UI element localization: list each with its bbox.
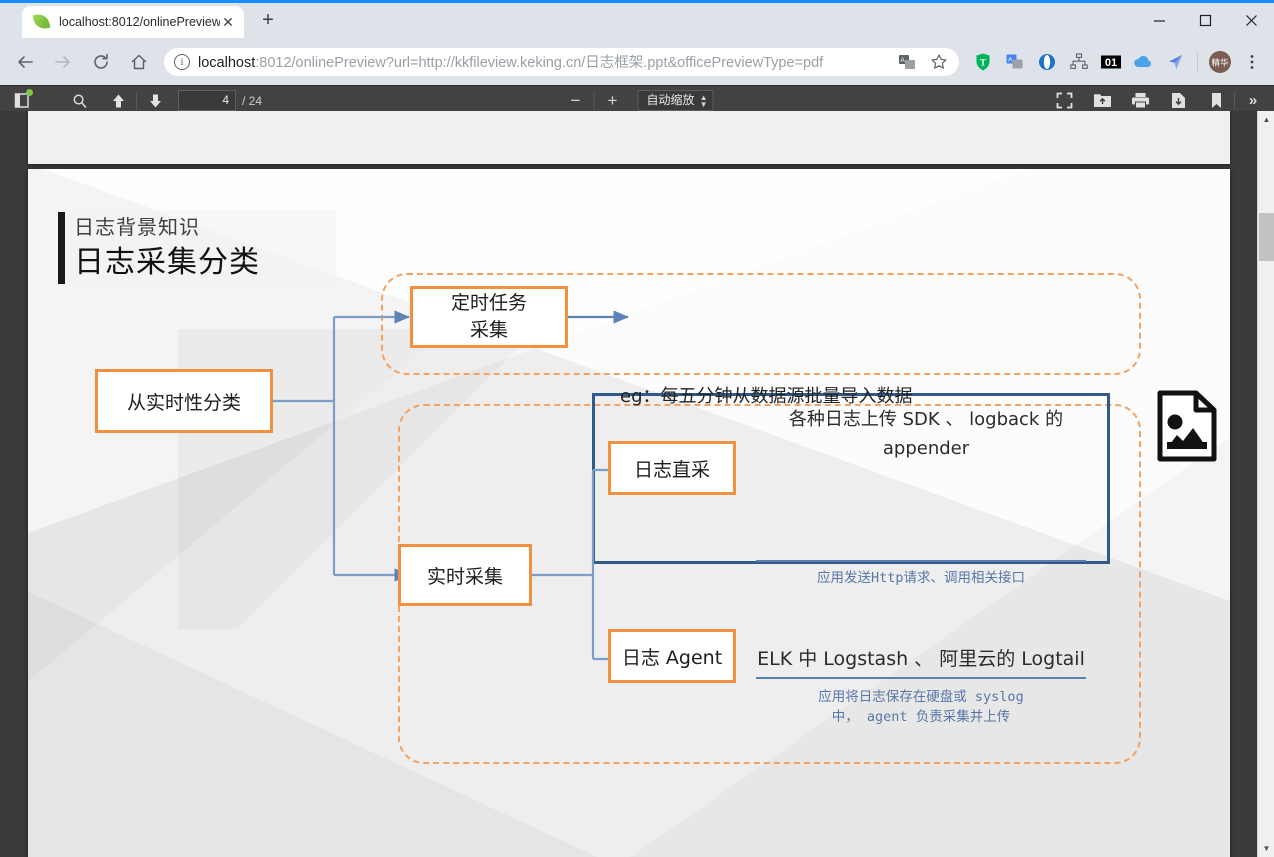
reload-icon[interactable] bbox=[86, 47, 116, 77]
pdf-page-previous bbox=[28, 111, 1230, 164]
presentation-mode-icon[interactable] bbox=[1050, 88, 1078, 113]
page-info-icon[interactable]: i bbox=[174, 54, 190, 70]
agent-desc-underline bbox=[756, 677, 1086, 679]
browser-navbar: i localhost:8012/onlinePreview?url=http:… bbox=[0, 38, 1274, 85]
page-title: 日志采集分类 bbox=[74, 237, 260, 281]
scroll-down-icon[interactable]: ▼ bbox=[1258, 840, 1274, 857]
address-bar[interactable]: i localhost:8012/onlinePreview?url=http:… bbox=[164, 48, 959, 76]
scrollbar-thumb[interactable] bbox=[1259, 213, 1274, 261]
tampermonkey-icon[interactable]: T bbox=[969, 48, 997, 76]
chrome-menu-icon[interactable] bbox=[1238, 48, 1266, 76]
box-line-1: 定时任务 bbox=[451, 290, 527, 317]
agent-note-line-2: 中， agent 负责采集并上传 bbox=[832, 709, 1010, 725]
sitemap-icon[interactable] bbox=[1065, 48, 1093, 76]
window-controls bbox=[1136, 3, 1274, 38]
toolbar-divider bbox=[593, 92, 594, 110]
zoom-level-label: 自动缩放 bbox=[646, 93, 694, 107]
address-bar-url: localhost:8012/onlinePreview?url=http://… bbox=[198, 51, 891, 72]
opera-ring-icon[interactable] bbox=[1033, 48, 1061, 76]
direct-collection-note: 应用发送Http请求、调用相关接口 bbox=[756, 568, 1086, 588]
box-realtime-collection: 实时采集 bbox=[398, 544, 532, 606]
tab-close-icon[interactable]: ✕ bbox=[220, 14, 236, 30]
cloud-icon[interactable] bbox=[1129, 48, 1157, 76]
omnibox-actions: A bbox=[891, 48, 955, 76]
agent-note: 应用将日志保存在硬盘或 syslog 中， agent 负责采集并上传 bbox=[756, 687, 1086, 727]
zoom-controls: − + 自动缩放 ▲▼ bbox=[560, 88, 713, 113]
new-tab-button[interactable]: + bbox=[254, 7, 282, 35]
box-scheduled-task-collection: 定时任务 采集 bbox=[410, 286, 568, 348]
bookmark-star-icon[interactable] bbox=[925, 48, 953, 76]
browser-window: localhost:8012/onlinePreview? ✕ + bbox=[0, 0, 1274, 857]
pdf-viewer[interactable]: 日志背景知识 日志采集分类 bbox=[0, 111, 1274, 857]
browser-tab[interactable]: localhost:8012/onlinePreview? ✕ bbox=[22, 6, 244, 38]
sidebar-toggle-icon[interactable] bbox=[8, 88, 36, 113]
google-translate-icon[interactable]: A bbox=[1001, 48, 1029, 76]
next-page-icon[interactable] bbox=[141, 88, 169, 113]
download-icon[interactable] bbox=[1164, 88, 1192, 113]
direct-desc-line-2: appender bbox=[883, 438, 969, 459]
leaf-icon bbox=[34, 14, 51, 31]
vertical-scrollbar[interactable]: ▲ ▼ bbox=[1257, 111, 1274, 857]
extensions-bar: T A 01 精华 bbox=[967, 48, 1268, 76]
back-icon[interactable] bbox=[10, 47, 40, 77]
more-tools-icon[interactable]: » bbox=[1239, 88, 1267, 113]
toolbar-divider bbox=[1197, 52, 1198, 72]
svg-text:01: 01 bbox=[1105, 57, 1117, 69]
home-icon[interactable] bbox=[124, 47, 154, 77]
zoom-in-button[interactable]: + bbox=[598, 88, 626, 113]
title-accent-bar bbox=[58, 212, 65, 284]
svg-text:A: A bbox=[1008, 56, 1013, 63]
scroll-up-icon[interactable]: ▲ bbox=[1258, 111, 1274, 128]
direct-collection-desc: 各种日志上传 SDK 、 logback 的 appender bbox=[756, 405, 1096, 463]
zoom-out-button[interactable]: − bbox=[561, 88, 589, 113]
pdf-tools-right: » bbox=[1049, 88, 1268, 113]
translate-page-icon[interactable]: A bbox=[893, 48, 921, 76]
svg-text:A: A bbox=[900, 57, 905, 64]
agent-note-line-1: 应用将日志保存在硬盘或 syslog bbox=[818, 689, 1023, 705]
zoom-level-select[interactable]: 自动缩放 ▲▼ bbox=[637, 90, 713, 111]
open-file-icon[interactable] bbox=[1088, 88, 1116, 113]
zero-one-icon[interactable]: 01 bbox=[1097, 48, 1125, 76]
close-icon[interactable] bbox=[1228, 3, 1274, 38]
toolbar-divider bbox=[1234, 92, 1235, 110]
avatar[interactable]: 精华 bbox=[1206, 48, 1234, 76]
box-line-2: 采集 bbox=[470, 317, 508, 344]
prev-page-icon[interactable] bbox=[104, 88, 132, 113]
page-number-input[interactable]: 4 bbox=[178, 90, 236, 111]
agent-desc: ELK 中 Logstash 、 阿里云的 Logtail bbox=[756, 644, 1086, 671]
url-host: localhost bbox=[198, 55, 255, 71]
svg-text:精华: 精华 bbox=[1211, 57, 1229, 67]
browser-titlebar: localhost:8012/onlinePreview? ✕ + bbox=[0, 0, 1274, 38]
printer-icon[interactable] bbox=[1126, 88, 1154, 113]
box-direct-log-collection: 日志直采 bbox=[608, 441, 736, 495]
direct-desc-underline bbox=[756, 560, 1086, 562]
toolbar-divider bbox=[136, 92, 137, 110]
box-classify-by-realtime: 从实时性分类 bbox=[95, 369, 273, 433]
pdf-page-current: 日志背景知识 日志采集分类 bbox=[28, 169, 1230, 857]
svg-text:T: T bbox=[980, 57, 986, 67]
bookmark-icon[interactable] bbox=[1202, 88, 1230, 113]
box-log-agent: 日志 Agent bbox=[608, 629, 736, 683]
maximize-icon[interactable] bbox=[1182, 3, 1228, 38]
slide-subtitle: 日志背景知识 bbox=[74, 211, 200, 240]
forward-icon[interactable] bbox=[48, 47, 78, 77]
image-placeholder-icon bbox=[1156, 390, 1218, 462]
chevron-updown-icon: ▲▼ bbox=[700, 94, 708, 108]
url-path: :8012/onlinePreview?url=http://kkfilevie… bbox=[255, 55, 823, 71]
tab-title: localhost:8012/onlinePreview? bbox=[59, 15, 220, 29]
kite-icon[interactable] bbox=[1161, 48, 1189, 76]
page-total-label: / 24 bbox=[242, 94, 262, 108]
search-icon[interactable] bbox=[66, 88, 94, 113]
minimize-icon[interactable] bbox=[1136, 3, 1182, 38]
direct-desc-line-1: 各种日志上传 SDK 、 logback 的 bbox=[789, 409, 1063, 430]
